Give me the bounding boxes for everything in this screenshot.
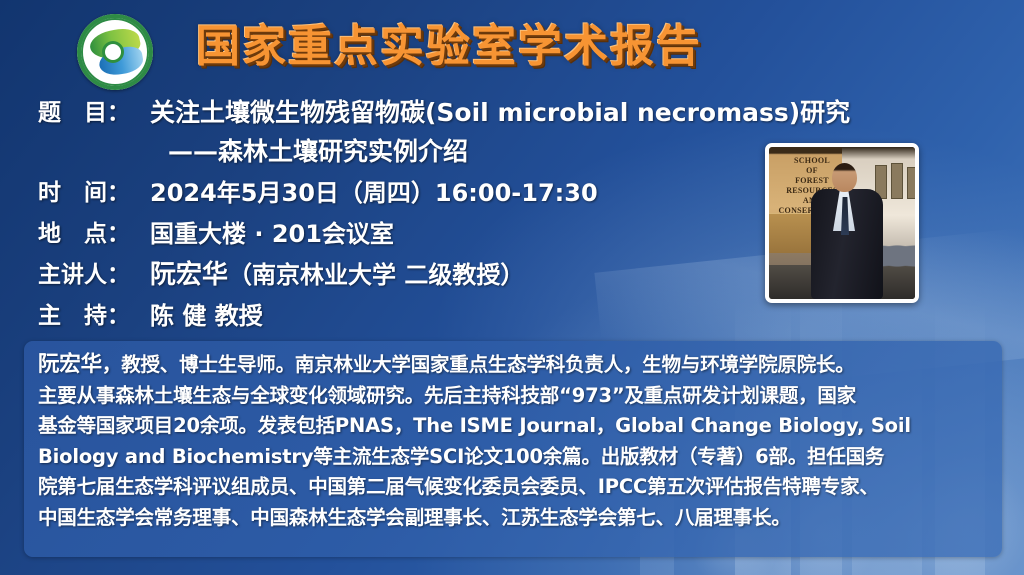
bio-line: 主要从事森林土壤生态与全球变化领域研究。先后主持科技部“973”及重点研发计划课… bbox=[38, 381, 988, 412]
photo-person-head bbox=[832, 163, 857, 192]
info-row-topic: 题 目： 关注土壤微生物残留物碳(Soil microbial necromas… bbox=[38, 93, 758, 133]
time-value: 2024年5月30日（周四）16:00-17:30 bbox=[150, 173, 598, 214]
bio-line-text: ，教授、博士生导师。南京林业大学国家重点生态学科负责人，生物与环境学院原院长。 bbox=[102, 353, 855, 376]
location-value: 国重大楼 · 201会议室 bbox=[150, 214, 394, 255]
info-row-topic-subtitle: ——森林土壤研究实例介绍 bbox=[38, 133, 758, 171]
topic-value: 关注土壤微生物残留物碳(Soil microbial necromass)研究 bbox=[150, 93, 850, 133]
bio-lead-name: 阮宏华 bbox=[38, 352, 102, 377]
location-label: 地 点： bbox=[38, 214, 150, 255]
speaker-biography-panel: 阮宏华，教授、博士生导师。南京林业大学国家重点生态学科负责人，生物与环境学院原院… bbox=[24, 341, 1002, 557]
bio-line: 基金等国家项目20余项。发表包括PNAS，The ISME Journal，Gl… bbox=[38, 411, 988, 442]
info-row-time: 时 间： 2024年5月30日（周四）16:00-17:30 bbox=[38, 173, 758, 214]
photo-wall-plaque bbox=[907, 167, 918, 199]
info-row-speaker: 主讲人： 阮宏华 （南京林业大学 二级教授） bbox=[38, 255, 758, 296]
seminar-poster: 国家重点实验室学术报告 题 目： 关注土壤微生物残留物碳(Soil microb… bbox=[0, 0, 1024, 575]
info-row-location: 地 点： 国重大楼 · 201会议室 bbox=[38, 214, 758, 255]
poster-title: 国家重点实验室学术报告 bbox=[196, 17, 836, 77]
state-key-laboratory-logo-icon bbox=[77, 14, 153, 90]
speaker-name: 阮宏华 bbox=[150, 255, 228, 296]
bio-line: 阮宏华，教授、博士生导师。南京林业大学国家重点生态学科负责人，生物与环境学院原院… bbox=[38, 350, 988, 381]
speaker-affiliation: （南京林业大学 二级教授） bbox=[228, 255, 524, 296]
time-label: 时 间： bbox=[38, 173, 150, 214]
bio-line: 中国生态学会常务理事、中国森林生态学会副理事长、江苏生态学会第七、八届理事长。 bbox=[38, 503, 988, 534]
logo-center-dot bbox=[105, 44, 121, 60]
host-value: 陈 健 教授 bbox=[150, 296, 263, 337]
bio-line: 院第七届生态学科评议组成员、中国第二届气候变化委员会委员、IPCC第五次评估报告… bbox=[38, 472, 988, 503]
topic-subtitle-value: ——森林土壤研究实例介绍 bbox=[168, 133, 468, 171]
speaker-photo: SCHOOL OF FOREST RESOURCES AND CONSERVAT… bbox=[765, 143, 919, 303]
speaker-label: 主讲人： bbox=[38, 255, 150, 296]
bio-line: Biology and Biochemistry等主流生态学SCI论文100余篇… bbox=[38, 442, 988, 473]
topic-label: 题 目： bbox=[38, 93, 150, 133]
seminar-info-list: 题 目： 关注土壤微生物残留物碳(Soil microbial necromas… bbox=[38, 93, 758, 337]
info-row-host: 主 持： 陈 健 教授 bbox=[38, 296, 758, 337]
host-label: 主 持： bbox=[38, 296, 150, 337]
photo-wall-plaque bbox=[891, 163, 903, 199]
poster-header: 国家重点实验室学术报告 bbox=[0, 0, 1024, 92]
